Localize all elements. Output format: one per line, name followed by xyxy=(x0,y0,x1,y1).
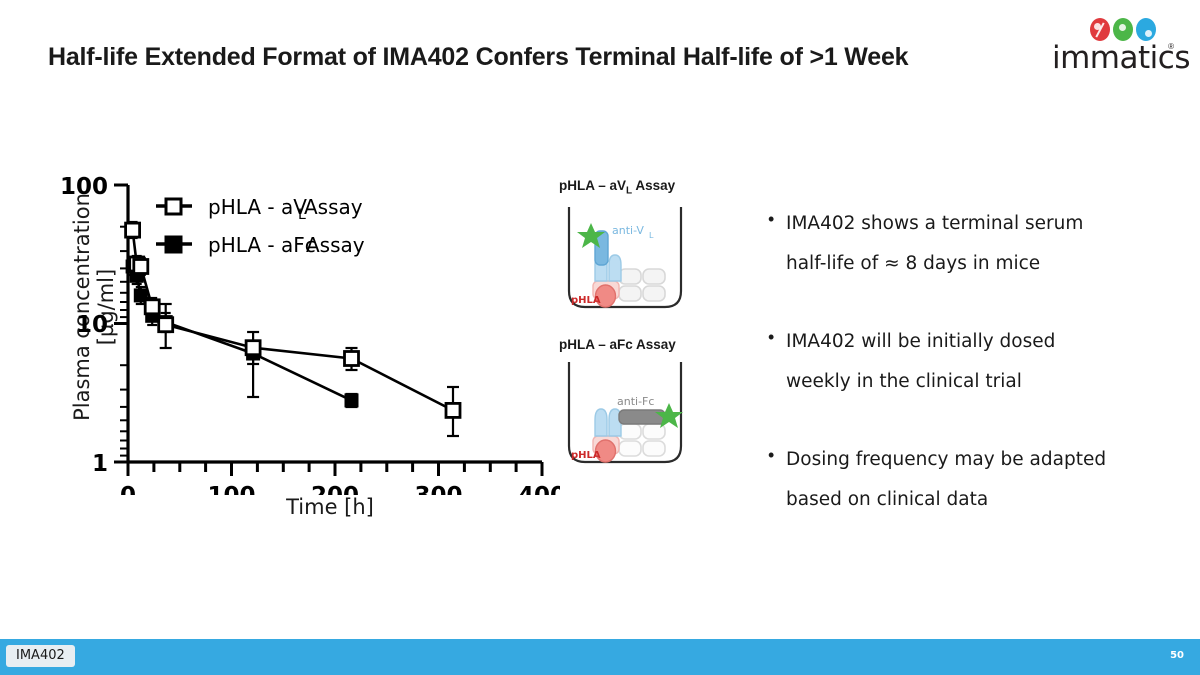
series-avl-line xyxy=(133,230,453,410)
chart-xtick-300: 300 xyxy=(414,483,462,495)
bullet-body: IMA402 will be initially dosed weekly in… xyxy=(786,322,1055,402)
assay-avl-antibody-label-sub: L xyxy=(649,231,654,240)
logo-registered-mark: ® xyxy=(1168,42,1174,51)
assay-avl-phla-label: pHLA xyxy=(571,295,601,306)
bullet-list: • IMA402 shows a terminal serum half-lif… xyxy=(768,204,1168,558)
assay-diagram-afc: pHLA – aFc Assay xyxy=(555,337,695,475)
assay-afc-artwork: anti-Fc pHLA xyxy=(555,358,695,470)
list-item: • IMA402 shows a terminal serum half-lif… xyxy=(768,204,1168,284)
list-item: • IMA402 will be initially dosed weekly … xyxy=(768,322,1168,402)
pk-chart: Plasma concentration [µg/ml] Time [h] xyxy=(40,165,560,540)
bullet-marker: • xyxy=(768,204,786,234)
assay-diagram-avl: pHLA – aVL Assay xyxy=(555,178,695,320)
assay-avl-artwork: anti-V L pHLA xyxy=(555,203,695,315)
chart-x-axis-label: Time [h] xyxy=(110,495,550,519)
legend-label-avl-tail: Assay xyxy=(304,195,363,219)
assay-afc-caption: pHLA – aFc Assay xyxy=(559,337,695,352)
legend-label-afc-tail: Assay xyxy=(306,233,365,257)
slide-canvas: Half-life Extended Format of IMA402 Conf… xyxy=(0,0,1200,675)
bullet-marker: • xyxy=(768,322,786,352)
logo-dots-group xyxy=(1090,18,1156,41)
footer-page-number: 50 xyxy=(1170,650,1184,661)
assay-afc-phla-label: pHLA xyxy=(571,450,601,461)
chart-ytick-1: 1 xyxy=(92,451,108,477)
logo-dot-blue-icon xyxy=(1136,18,1156,41)
legend-entry-avl: pHLA - aV L Assay xyxy=(156,195,363,223)
bullet-marker: • xyxy=(768,440,786,470)
chart-xtick-400: 400 xyxy=(518,483,560,495)
bullet-line: half-life of ≈ 8 days in mice xyxy=(786,244,1083,284)
bullet-line: weekly in the clinical trial xyxy=(786,362,1055,402)
legend-label-afc-main: pHLA - aFc xyxy=(208,233,316,257)
chart-x-ticks xyxy=(128,462,542,476)
bullet-body: IMA402 shows a terminal serum half-life … xyxy=(786,204,1083,284)
bullet-line: IMA402 shows a terminal serum xyxy=(786,204,1083,244)
chart-xtick-200: 200 xyxy=(311,483,359,495)
bullet-body: Dosing frequency may be adapted based on… xyxy=(786,440,1106,520)
chart-ytick-100: 100 xyxy=(60,174,108,200)
logo-dot-red-icon xyxy=(1090,18,1110,41)
assay-target-cells xyxy=(619,424,665,456)
chart-xtick-0: 0 xyxy=(120,483,136,495)
assay-antibody-shape xyxy=(595,409,621,436)
immatics-logo: immatics ® xyxy=(1052,18,1172,80)
bullet-line: Dosing frequency may be adapted xyxy=(786,440,1106,480)
bullet-line: based on clinical data xyxy=(786,480,1106,520)
footer-program-tag: IMA402 xyxy=(6,645,75,667)
chart-xtick-100: 100 xyxy=(207,483,255,495)
assay-avl-antibody-label: anti-V xyxy=(612,224,644,237)
bullet-line: IMA402 will be initially dosed xyxy=(786,322,1055,362)
logo-dot-green-icon xyxy=(1113,18,1133,41)
legend-entry-afc: pHLA - aFc Assay xyxy=(156,233,365,257)
legend-label-avl-main: pHLA - aV xyxy=(208,195,307,219)
assay-avl-caption-main: pHLA – aV xyxy=(559,178,626,193)
assay-antibody-shape xyxy=(595,231,621,281)
chart-ytick-10: 10 xyxy=(76,312,108,338)
assay-afc-antibody-label: anti-Fc xyxy=(617,395,654,408)
footer-bar: IMA402 50 xyxy=(0,639,1200,675)
chart-plot-area: 100 10 1 xyxy=(40,165,560,495)
assay-avl-caption: pHLA – aVL Assay xyxy=(559,178,695,197)
list-item: • Dosing frequency may be adapted based … xyxy=(768,440,1168,520)
series-afc-markers xyxy=(127,261,358,407)
page-title: Half-life Extended Format of IMA402 Conf… xyxy=(48,44,1008,72)
assay-avl-caption-tail: Assay xyxy=(632,178,675,193)
assay-target-cells xyxy=(619,269,665,301)
chart-legend: pHLA - aV L Assay pHLA - aFc Assay xyxy=(156,195,365,257)
